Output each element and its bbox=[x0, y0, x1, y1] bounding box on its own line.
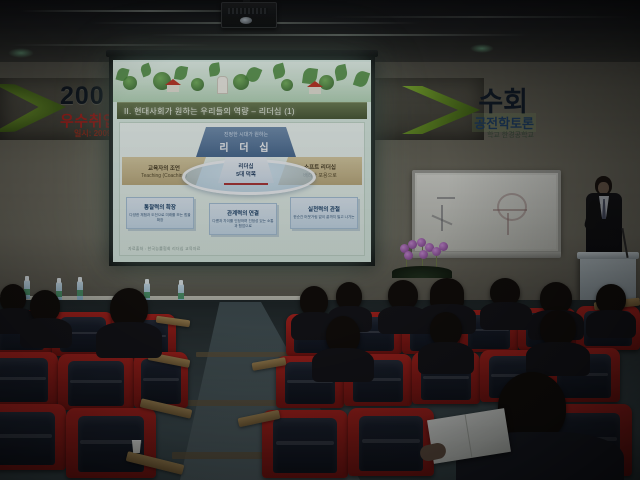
projector-lens bbox=[240, 17, 252, 24]
orchid-foliage bbox=[392, 266, 452, 278]
slide-footer-note: 자료출처 : 한국능률협회 리더십 교육자료 bbox=[128, 246, 201, 252]
slide-bottom-box-2: 관계력의 연결 다름과 차이를 인정하며 진정성 있는 소통과 협업으로 bbox=[209, 203, 277, 235]
screenshot-root: 200 우수취업 일시: 2009. 수회 공전학토론 학교 한경공학교 bbox=[0, 0, 640, 480]
core-underline bbox=[224, 183, 268, 185]
seat bbox=[0, 352, 58, 406]
slide-bottom-box-1: 통찰력의 확장 다양한 체험과 도전으로 미래를 보는 힘을 확장 bbox=[126, 197, 194, 229]
bottom-box-2-title: 관계력의 연결 bbox=[227, 209, 259, 217]
banner-year: 200 bbox=[60, 82, 105, 111]
chevron-logo-left-icon bbox=[0, 84, 66, 132]
core-line-2: 5대 덕목 bbox=[236, 170, 256, 178]
bottom-box-1-body: 다양한 체험과 도전으로 미래를 보는 힘을 확장 bbox=[129, 213, 191, 223]
seat bbox=[66, 408, 156, 478]
bottom-box-3-body: 한순간 머뭇거림 없이 끝까지 밀고 나가는 bbox=[293, 215, 354, 220]
slide-body: 진정한 시대가 원하는 리 더 십 교육자의 조언 Teaching (Coac… bbox=[119, 122, 365, 256]
bottom-box-2-body: 다름과 차이를 인정하며 진정성 있는 소통과 협업으로 bbox=[212, 219, 274, 229]
hero-headline: 리 더 십 bbox=[219, 139, 272, 154]
hero-eyebrow: 진정한 시대가 원하는 bbox=[224, 131, 268, 138]
banner-right-footnote: 학교 한경공학교 bbox=[487, 130, 534, 140]
banner-date-line: 일시: 2009. bbox=[74, 128, 114, 139]
chevron-logo-right-icon bbox=[402, 86, 480, 134]
podium-top bbox=[577, 252, 639, 259]
seat bbox=[58, 354, 134, 410]
water-bottle bbox=[77, 281, 83, 300]
slide-title-text: II. 현대사회가 원하는 우리들의 역량 – 리더십 (1) bbox=[124, 106, 295, 117]
seat bbox=[262, 410, 348, 478]
bottom-box-3-title: 실천력의 관철 bbox=[308, 205, 340, 213]
ceiling-projector bbox=[221, 2, 277, 28]
slide-center-core: 리더십 5대 덕목 bbox=[218, 157, 274, 183]
side-box-left-title: 교육자의 조언 bbox=[148, 164, 180, 172]
side-box-left-subtitle: Teaching (Coaching) bbox=[141, 173, 187, 179]
projection-screen: II. 현대사회가 원하는 우리들의 역량 – 리더십 (1) 진정한 시대가 … bbox=[113, 60, 371, 262]
bottom-box-1-title: 통찰력의 확장 bbox=[144, 203, 176, 211]
projector-vent bbox=[228, 8, 268, 14]
seat bbox=[0, 404, 66, 470]
orchid-plant bbox=[392, 238, 454, 278]
slide-hero-banner: 진정한 시대가 원하는 리 더 십 bbox=[196, 127, 296, 157]
slide-header-graphic bbox=[113, 62, 371, 102]
slide-bottom-box-3: 실천력의 관철 한순간 머뭇거림 없이 끝까지 밀고 나가는 bbox=[290, 197, 358, 229]
slide-title-bar: II. 현대사회가 원하는 우리들의 역량 – 리더십 (1) bbox=[117, 102, 367, 119]
core-line-1: 리더십 bbox=[238, 162, 253, 170]
seat bbox=[348, 408, 434, 476]
